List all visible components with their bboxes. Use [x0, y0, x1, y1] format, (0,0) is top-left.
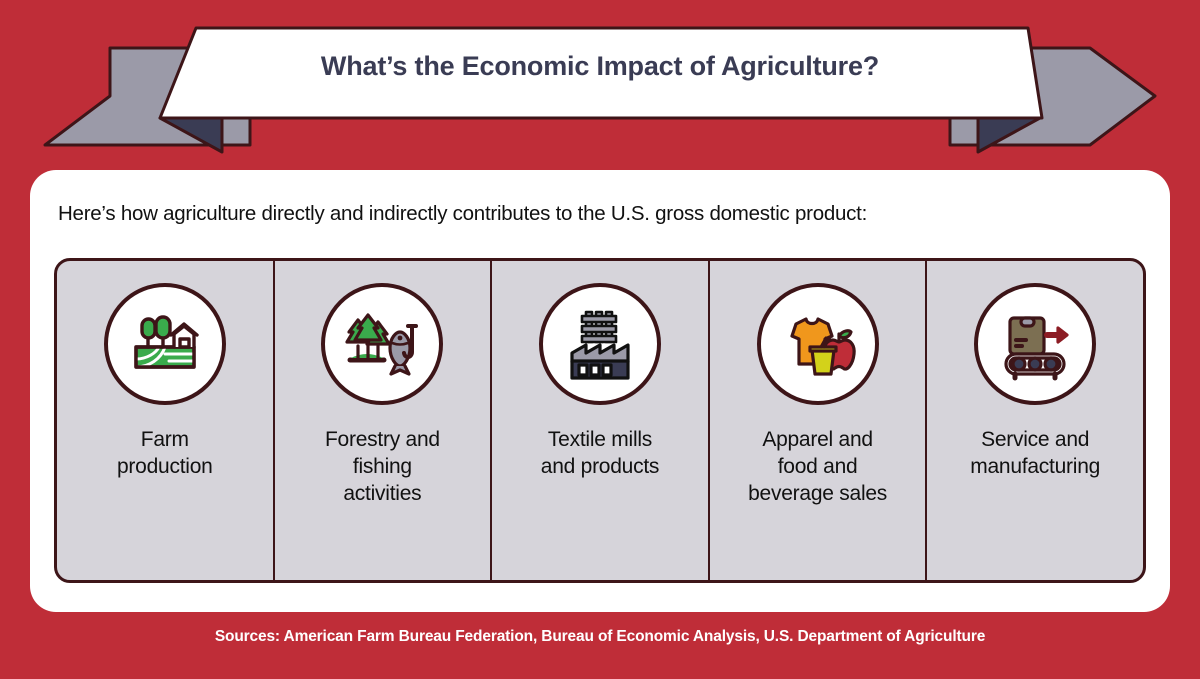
- label-line: Textile mills: [541, 427, 659, 454]
- category-label: Farm production: [111, 427, 219, 481]
- label-line: beverage sales: [748, 481, 887, 508]
- main-card: Here’s how agriculture directly and indi…: [30, 170, 1170, 612]
- service-manufacturing-icon: [974, 283, 1096, 405]
- category-label: Service and manufacturing: [964, 427, 1106, 481]
- category-label: Textile mills and products: [535, 427, 665, 481]
- category-label: Apparel and food and beverage sales: [742, 427, 893, 508]
- label-line: activities: [325, 481, 440, 508]
- sources-footer: Sources: American Farm Bureau Federation…: [0, 628, 1200, 646]
- farm-production-icon: [104, 283, 226, 405]
- textile-mill-icon: [539, 283, 661, 405]
- categories-panel: Farm production: [54, 258, 1146, 583]
- forestry-fishing-icon: [321, 283, 443, 405]
- label-line: and products: [541, 454, 659, 481]
- label-line: Farm: [117, 427, 213, 454]
- label-line: manufacturing: [970, 454, 1100, 481]
- category-cell-textile-mills[interactable]: Textile mills and products: [492, 261, 710, 580]
- page-title: What’s the Economic Impact of Agricultur…: [210, 52, 990, 82]
- category-cell-service-manufacturing[interactable]: Service and manufacturing: [927, 261, 1143, 580]
- label-line: Apparel and: [748, 427, 887, 454]
- card-subtitle: Here’s how agriculture directly and indi…: [58, 202, 1148, 226]
- label-line: production: [117, 454, 213, 481]
- label-line: food and: [748, 454, 887, 481]
- label-line: Service and: [970, 427, 1100, 454]
- apparel-food-beverage-icon: [757, 283, 879, 405]
- label-line: fishing: [325, 454, 440, 481]
- category-cell-apparel-food-beverage[interactable]: Apparel and food and beverage sales: [710, 261, 928, 580]
- banner-ribbon: What’s the Economic Impact of Agricultur…: [0, 0, 1200, 160]
- category-cell-farm-production[interactable]: Farm production: [57, 261, 275, 580]
- category-cell-forestry-fishing[interactable]: Forestry and fishing activities: [275, 261, 493, 580]
- category-label: Forestry and fishing activities: [319, 427, 446, 508]
- label-line: Forestry and: [325, 427, 440, 454]
